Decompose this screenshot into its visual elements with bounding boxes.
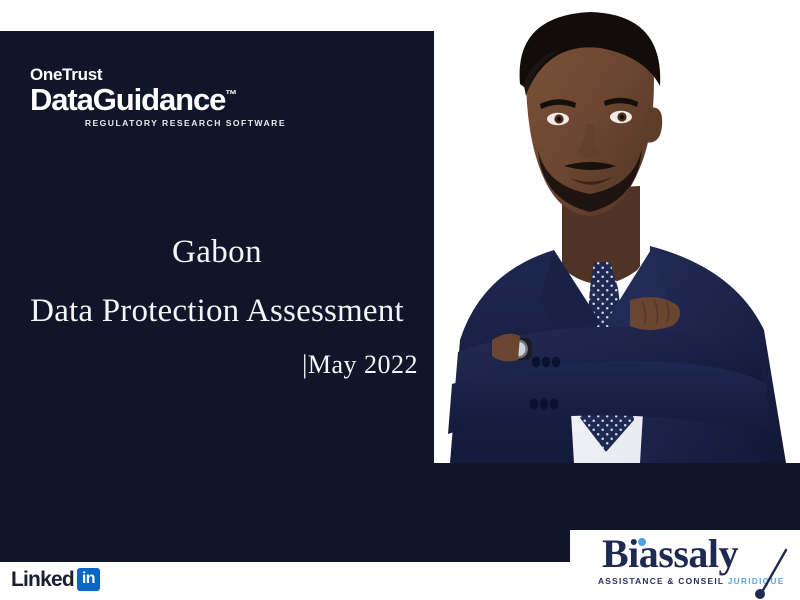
biassaly-tagline-blue: JURIDIQUE	[728, 576, 785, 586]
page-title-country: Gabon	[0, 232, 434, 273]
biassaly-wordmark: Biassaly	[602, 534, 738, 574]
slide-canvas: OneTrust DataGuidance™ REGULATORY RESEAR…	[0, 0, 800, 600]
biassaly-swoosh-icon	[748, 548, 792, 600]
linkedin-in-icon: in	[77, 568, 100, 591]
page-title-heading: Data Protection Assessment	[0, 291, 434, 332]
title-block: Gabon Data Protection Assessment |May 20…	[0, 232, 434, 380]
biassaly-tagline-navy: ASSISTANCE & CONSEIL	[598, 576, 724, 586]
linkedin-wordmark: Linked	[11, 569, 74, 590]
onetrust-dataguidance-logo: OneTrust DataGuidance™ REGULATORY RESEAR…	[30, 66, 290, 128]
logo-tagline-text: REGULATORY RESEARCH SOFTWARE	[30, 118, 290, 128]
page-title-date: |May 2022	[0, 349, 434, 380]
biassaly-logo-card: Biassaly ASSISTANCE & CONSEIL JURIDIQUE	[570, 530, 800, 600]
portrait-illustration	[434, 0, 800, 463]
trademark-icon: ™	[225, 88, 237, 102]
linkedin-logo[interactable]: Linked in	[11, 567, 100, 591]
biassaly-tagline: ASSISTANCE & CONSEIL JURIDIQUE	[598, 576, 785, 586]
logo-dataguidance-text: DataGuidance™	[30, 84, 290, 117]
logo-dataguidance-word: DataGuidance	[30, 82, 225, 117]
biassaly-dot-icon	[638, 538, 646, 546]
portrait-photo	[434, 0, 800, 463]
